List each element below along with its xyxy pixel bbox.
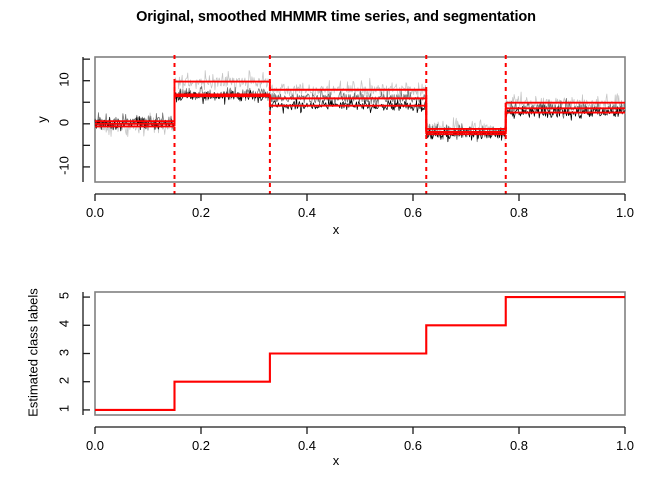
y-axis-title: y [35, 100, 50, 140]
x-tick-label: 0.6 [383, 205, 443, 220]
y-tick-label: -10 [57, 148, 72, 182]
time-series-panel: Original, smoothed MHMMR time series, an… [0, 0, 672, 240]
x-tick-label: 0.0 [65, 438, 125, 453]
class-tick-label: 3 [57, 337, 72, 367]
class-tick-label: 1 [57, 393, 72, 423]
x-tick-label: 0.2 [171, 438, 231, 453]
class-tick-label: 4 [57, 309, 72, 339]
y-tick-label: 10 [57, 62, 72, 96]
x-axis-title: x [0, 222, 672, 237]
x-tick-label: 1.0 [595, 438, 655, 453]
x-tick-label: 0.4 [277, 438, 337, 453]
time-series-plot-canvas [0, 0, 672, 240]
x-tick-label: 0.4 [277, 205, 337, 220]
mhmmr-segmentation-figure: Original, smoothed MHMMR time series, an… [0, 0, 672, 480]
x-tick-label: 0.6 [383, 438, 443, 453]
x-tick-label: 0.8 [489, 438, 549, 453]
x-tick-label: 0.2 [171, 205, 231, 220]
x-tick-label: 1.0 [595, 205, 655, 220]
x-tick-label: 0.8 [489, 205, 549, 220]
class-tick-label: 2 [57, 365, 72, 395]
x-axis-title: x [0, 453, 672, 468]
y-tick-label: 0 [57, 105, 72, 139]
class-tick-label: 5 [57, 281, 72, 311]
x-tick-label: 0.0 [65, 205, 125, 220]
class-labels-panel: Estimated class labels x 0.00.20.40.60.8… [0, 240, 672, 480]
class-labels-axis-title: Estimated class labels [26, 278, 41, 428]
